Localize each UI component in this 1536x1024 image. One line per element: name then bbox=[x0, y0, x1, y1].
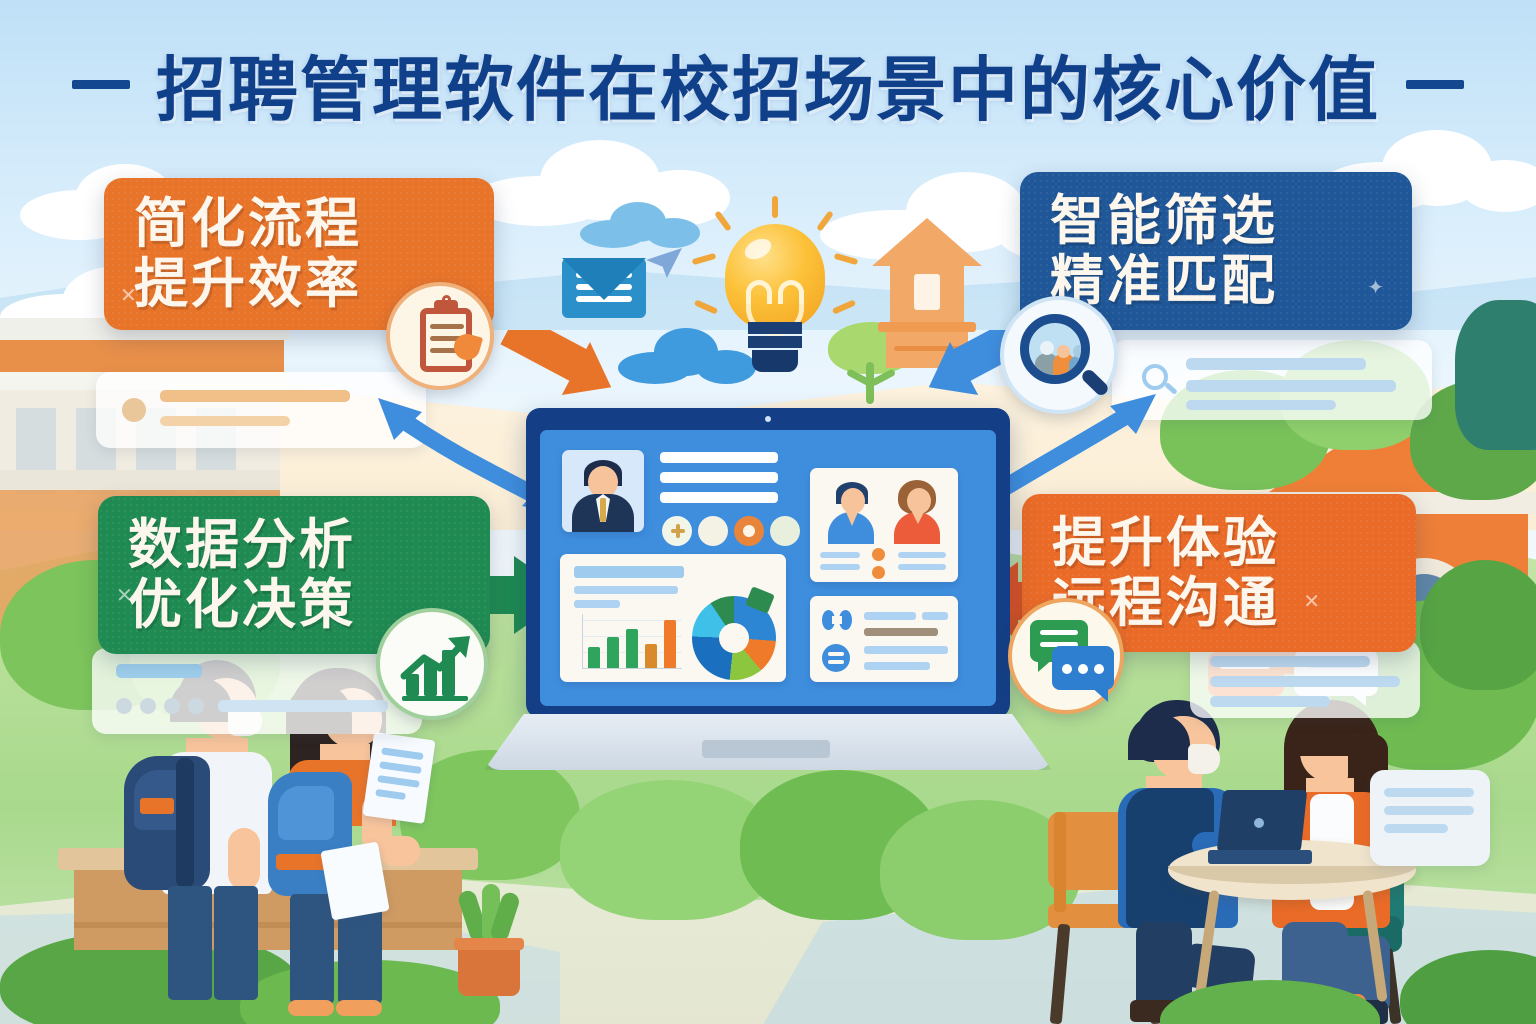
candidate-profile-card[interactable] bbox=[562, 450, 644, 532]
analytics-card[interactable] bbox=[560, 554, 786, 682]
bar-1 bbox=[588, 647, 600, 668]
tree-icon bbox=[1455, 300, 1536, 450]
resume-paper bbox=[362, 732, 435, 824]
background-ui-panel-left-lower bbox=[92, 648, 422, 734]
envelope-icon bbox=[562, 258, 646, 318]
candidate-pair-card[interactable] bbox=[810, 468, 958, 582]
bar-4 bbox=[645, 644, 657, 668]
open-laptop bbox=[1208, 790, 1312, 868]
dashboard-screen[interactable] bbox=[540, 430, 996, 706]
lightbulb-icon bbox=[690, 196, 860, 386]
magnifier-people-icon bbox=[1000, 296, 1118, 414]
chip-4[interactable] bbox=[770, 516, 800, 546]
potted-plant bbox=[452, 890, 524, 1002]
settings-list-card[interactable] bbox=[810, 596, 958, 682]
chip-active[interactable] bbox=[734, 516, 764, 546]
paper-plane-icon bbox=[646, 248, 682, 278]
header-line bbox=[660, 492, 778, 503]
header-line bbox=[660, 472, 778, 483]
analytics-sub-line bbox=[574, 600, 620, 608]
card-line-2: 精准匹配 bbox=[1050, 251, 1382, 311]
sparkle-icon: ✕ bbox=[116, 583, 133, 608]
laptop-trackpad bbox=[702, 740, 830, 758]
clipboard-checklist-icon bbox=[386, 282, 494, 390]
avatar bbox=[822, 478, 880, 544]
growth-bar-chart-icon bbox=[376, 608, 488, 720]
chip-2[interactable] bbox=[698, 516, 728, 546]
title-dash-left bbox=[72, 80, 130, 89]
page-title: 招聘管理软件在校招场景中的核心价值 bbox=[0, 38, 1536, 130]
header-line bbox=[660, 452, 778, 463]
donut-chart bbox=[692, 596, 776, 680]
bar-3 bbox=[626, 629, 638, 668]
card-line-1: 提升体验 bbox=[1052, 513, 1386, 573]
bar-chart bbox=[574, 614, 682, 676]
title-text: 招聘管理软件在校招场景中的核心价值 bbox=[156, 34, 1380, 135]
webcam-icon bbox=[765, 416, 771, 422]
sparkle-icon: ✕ bbox=[120, 283, 137, 308]
bar-5 bbox=[664, 620, 676, 668]
cloud-icon bbox=[580, 200, 700, 248]
add-chip[interactable] bbox=[662, 516, 692, 546]
tree-icon bbox=[1420, 560, 1536, 690]
sparkle-icon: ✕ bbox=[1303, 589, 1320, 614]
infographic-canvas: 招聘管理软件在校招场景中的核心价值 简化流程 提升效率 ✕ 智能筛选 精准匹配 … bbox=[0, 0, 1536, 1024]
card-line-1: 数据分析 bbox=[128, 515, 460, 575]
title-dash-right bbox=[1406, 80, 1464, 89]
resume-paper bbox=[320, 841, 389, 920]
analytics-sub-line bbox=[574, 586, 678, 594]
arrow-connector-top-orange bbox=[500, 330, 620, 410]
card-line-1: 智能筛选 bbox=[1050, 191, 1382, 251]
card-line-1: 简化流程 bbox=[134, 194, 464, 254]
chat-bubbles-icon bbox=[1008, 598, 1124, 714]
analytics-title-line bbox=[574, 566, 684, 578]
balance-icon bbox=[822, 644, 850, 672]
laptop-lid bbox=[526, 408, 1010, 718]
sparkle-icon: ✦ bbox=[1367, 275, 1384, 300]
status-dot bbox=[872, 566, 885, 579]
recruitment-dashboard-laptop[interactable] bbox=[484, 408, 1052, 798]
status-dot bbox=[872, 548, 885, 561]
avatar bbox=[888, 478, 946, 544]
bar-2 bbox=[607, 637, 619, 668]
background-ui-panel-right bbox=[1112, 340, 1432, 420]
network-icon bbox=[822, 608, 852, 634]
notice-board-right bbox=[1370, 770, 1490, 866]
